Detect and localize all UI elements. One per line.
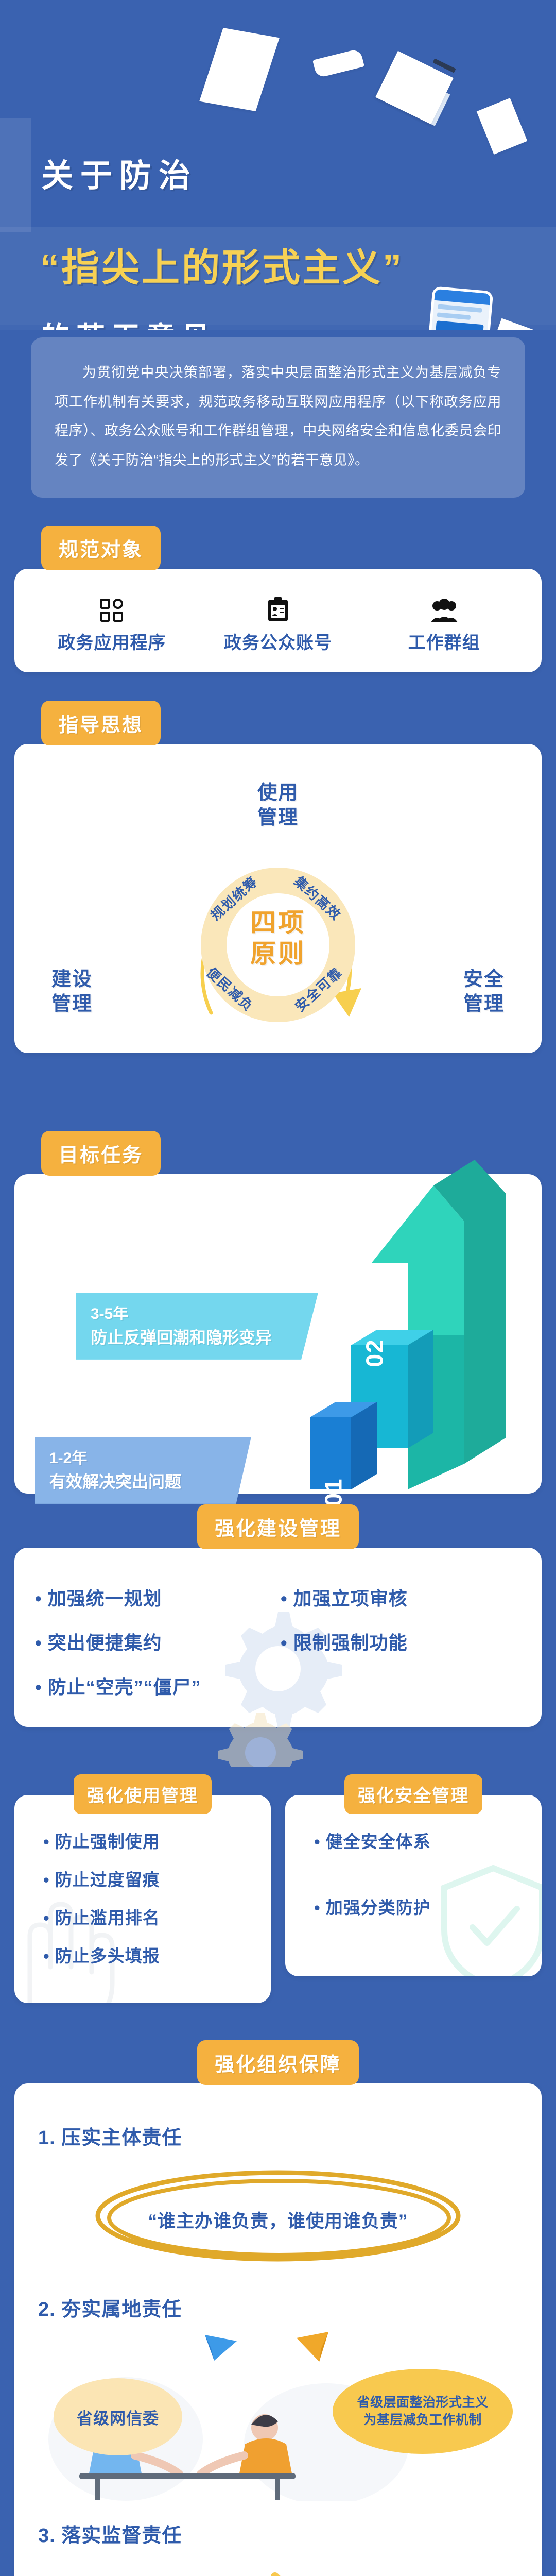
clipboard-account-icon xyxy=(201,594,355,622)
goal-step-number-01: 01 xyxy=(320,1478,347,1506)
flying-paper-icon xyxy=(312,48,364,78)
regulated-objects-card: 政务应用程序 政务公众账号 xyxy=(14,569,542,672)
goal-step-number-02: 02 xyxy=(361,1338,389,1367)
hero-banner: 关于防治 “指尖上的形式主义” 的若干意见 xyxy=(0,0,556,330)
organization-item-2-title: 2. 夯实属地责任 xyxy=(38,2293,518,2321)
usage-bullets: 防止强制使用 防止过度留痕 防止滥用排名 防止多头填报 xyxy=(28,1828,257,1967)
organization-bubble-provincial-mechanism: 省级层面整治形式主义 为基层减负工作机制 xyxy=(333,2369,513,2454)
guiding-label-top: 使用 管理 xyxy=(257,781,299,830)
guiding-ideology-card: 使用 管理 规划统筹 集约高效 便民减负 安全可靠 四项 原则 建设 管理 xyxy=(14,744,542,1053)
hero-title-line3: 的若干意见 xyxy=(41,314,216,330)
security-management-card: 健全安全体系 加强分类防护 xyxy=(285,1795,542,1976)
construction-management-card: 加强统一规划 加强立项审核 突出便捷集约 限制强制功能 防止“空壳”“僵尸” xyxy=(14,1548,542,1727)
section-organization-guarantee: 强化组织保障 1. 压实主体责任 “谁主办谁负责，谁使用谁负责” 2. 夯实属地… xyxy=(14,2061,542,2576)
goal-band-01: 1-2年 有效解决突出问题 xyxy=(35,1437,251,1504)
section-goals: 目标任务 3 xyxy=(14,1151,542,1494)
usage-bullet: 防止滥用排名 xyxy=(28,1904,257,1929)
construction-bullet: 加强统一规划 xyxy=(35,1584,275,1611)
regulated-object-item[interactable]: 政务应用程序 xyxy=(34,594,189,654)
goal-text-01: 有效解决突出问题 xyxy=(49,1470,237,1494)
construction-bullet: 限制强制功能 xyxy=(281,1628,521,1655)
phone-line xyxy=(438,304,482,312)
usage-bullet: 防止强制使用 xyxy=(28,1828,257,1853)
goal-band-02: 3-5年 防止反弹回潮和隐形变异 xyxy=(76,1293,318,1360)
infographic-page: 关于防治 “指尖上的形式主义” 的若干意见 为贯彻党中央决策部署，落实中央层面整… xyxy=(0,0,556,2576)
guiding-label-left-l2: 管理 xyxy=(51,993,93,1015)
section-tag-goals: 目标任务 xyxy=(41,1131,161,1176)
construction-bullet: 突出便捷集约 xyxy=(35,1628,275,1655)
principles-center-l2: 原则 xyxy=(250,939,306,968)
flying-paper-icon xyxy=(199,28,280,111)
usage-bullet: 防止过度留痕 xyxy=(28,1866,257,1891)
phone-line xyxy=(437,312,471,320)
section-tag-guiding-ideology: 指导思想 xyxy=(41,701,161,745)
security-management-column: 强化安全管理 健全安全体系 加强分类防护 xyxy=(285,1772,542,2003)
goals-stair-chart: 3-5年 防止反弹回潮和隐形变异 02 1-2年 有效解决突出问题 01 xyxy=(14,1174,542,1494)
guiding-label-right: 安全 管理 xyxy=(463,968,505,1016)
construction-bullet: 加强立项审核 xyxy=(281,1584,521,1611)
guiding-label-right-l2: 管理 xyxy=(463,993,505,1015)
usage-management-card: 防止强制使用 防止过度留痕 防止滥用排名 防止多头填报 xyxy=(14,1795,271,2003)
construction-bullets: 加强统一规划 加强立项审核 突出便捷集约 限制强制功能 防止“空壳”“僵尸” xyxy=(35,1584,521,1699)
section-usage-and-security: 强化使用管理 防止强制使用 防止过度留痕 防止滥用排名 防止多头填报 xyxy=(14,1772,542,2003)
goals-card: 3-5年 防止反弹回潮和隐形变异 02 1-2年 有效解决突出问题 01 xyxy=(14,1174,542,1494)
goal-years-02: 3-5年 xyxy=(91,1303,304,1326)
usage-bullet: 防止多头填报 xyxy=(28,1942,257,1967)
regulated-object-label: 政务应用程序 xyxy=(34,629,189,654)
section-construction-management: 强化建设管理 加强统一规划 加强立项审核 突出便捷集约 限制强制功能 防止“空壳… xyxy=(14,1525,542,1727)
security-bullet: 加强分类防护 xyxy=(299,1894,528,1919)
security-bullets: 健全安全体系 加强分类防护 xyxy=(299,1828,528,1919)
security-bullet: 健全安全体系 xyxy=(299,1828,528,1853)
organization-item-2-body: 省级网信委 省级层面整治形式主义 为基层减负工作机制 xyxy=(38,2331,518,2501)
guiding-label-top-l1: 使用 xyxy=(257,782,299,804)
regulated-object-label: 政务公众账号 xyxy=(201,629,355,654)
apps-grid-icon xyxy=(34,594,189,622)
principles-center-label: 四项 原则 xyxy=(227,907,329,969)
four-principles-diagram: 使用 管理 规划统筹 集约高效 便民减负 安全可靠 四项 原则 建设 管理 xyxy=(14,776,542,1030)
two-way-arrows-icon xyxy=(198,2562,352,2576)
guiding-label-left: 建设 管理 xyxy=(51,968,93,1016)
phone-icon xyxy=(420,286,494,330)
hero-title-line2: “指尖上的形式主义” xyxy=(40,237,404,292)
people-group-icon xyxy=(367,594,522,622)
section-regulated-objects: 规范对象 政务应用程序 xyxy=(14,546,542,672)
regulated-object-label: 工作群组 xyxy=(367,629,522,654)
bubble-right-line2: 为基层减负工作机制 xyxy=(363,2413,482,2427)
hand-holding-phone-illustration xyxy=(417,289,520,330)
usage-management-column: 强化使用管理 防止强制使用 防止过度留痕 防止滥用排名 防止多头填报 xyxy=(14,1772,271,2003)
phone-message-bubble xyxy=(436,320,484,330)
phone-statusbar xyxy=(434,289,491,305)
organization-item-1-quote: “谁主办谁负责，谁使用谁负责” xyxy=(148,2207,408,2233)
upward-arrow-stairs-illustration xyxy=(305,1129,521,1489)
hero-title-line1: 关于防治 xyxy=(41,149,198,196)
goal-text-02: 防止反弹回潮和隐形变异 xyxy=(91,1326,304,1349)
regulated-objects-row: 政务应用程序 政务公众账号 xyxy=(29,594,527,654)
organization-item-3-title: 3. 落实监督责任 xyxy=(38,2519,518,2548)
organization-item-1-title: 1. 压实主体责任 xyxy=(38,2122,518,2150)
section-guiding-ideology: 指导思想 使用 管理 规划统筹 集约高效 便民减负 安全可靠 xyxy=(14,721,542,1053)
organization-item-1-body: “谁主办谁负责，谁使用谁负责” xyxy=(38,2159,518,2273)
bubble-right-line1: 省级层面整治形式主义 xyxy=(357,2395,488,2410)
paper-plane-icon xyxy=(203,2331,239,2363)
flying-paper-icon xyxy=(477,98,528,155)
goal-years-01: 1-2年 xyxy=(49,1447,237,1470)
section-tag-security-management: 强化安全管理 xyxy=(344,1774,482,1814)
guiding-label-top-l2: 管理 xyxy=(257,807,299,828)
regulated-object-item[interactable]: 政务公众账号 xyxy=(201,594,355,654)
organization-guarantee-card: 1. 压实主体责任 “谁主办谁负责，谁使用谁负责” 2. 夯实属地责任 xyxy=(14,2083,542,2576)
construction-bullet: 防止“空壳”“僵尸” xyxy=(35,1672,521,1699)
organization-item-3-body: 网信部门 纪检监察机关 xyxy=(38,2557,518,2576)
principles-center-l1: 四项 xyxy=(250,908,306,937)
section-tag-regulated-objects: 规范对象 xyxy=(41,526,161,570)
section-tag-construction-management: 强化建设管理 xyxy=(197,1504,359,1549)
section-tag-usage-management: 强化使用管理 xyxy=(74,1774,212,1814)
regulated-object-item[interactable]: 工作群组 xyxy=(367,594,522,654)
organization-bubble-provincial-committee: 省级网信委 xyxy=(54,2378,182,2455)
guiding-label-right-l1: 安全 xyxy=(463,969,505,990)
hero-decor-band-left xyxy=(0,118,31,232)
guiding-label-left-l1: 建设 xyxy=(51,969,93,990)
paper-plane-icon xyxy=(291,2329,332,2365)
intro-paragraph: 为贯彻党中央决策部署，落实中央层面整治形式主义为基层减负专项工作机制有关要求，规… xyxy=(31,337,525,498)
section-tag-organization-guarantee: 强化组织保障 xyxy=(197,2040,359,2085)
